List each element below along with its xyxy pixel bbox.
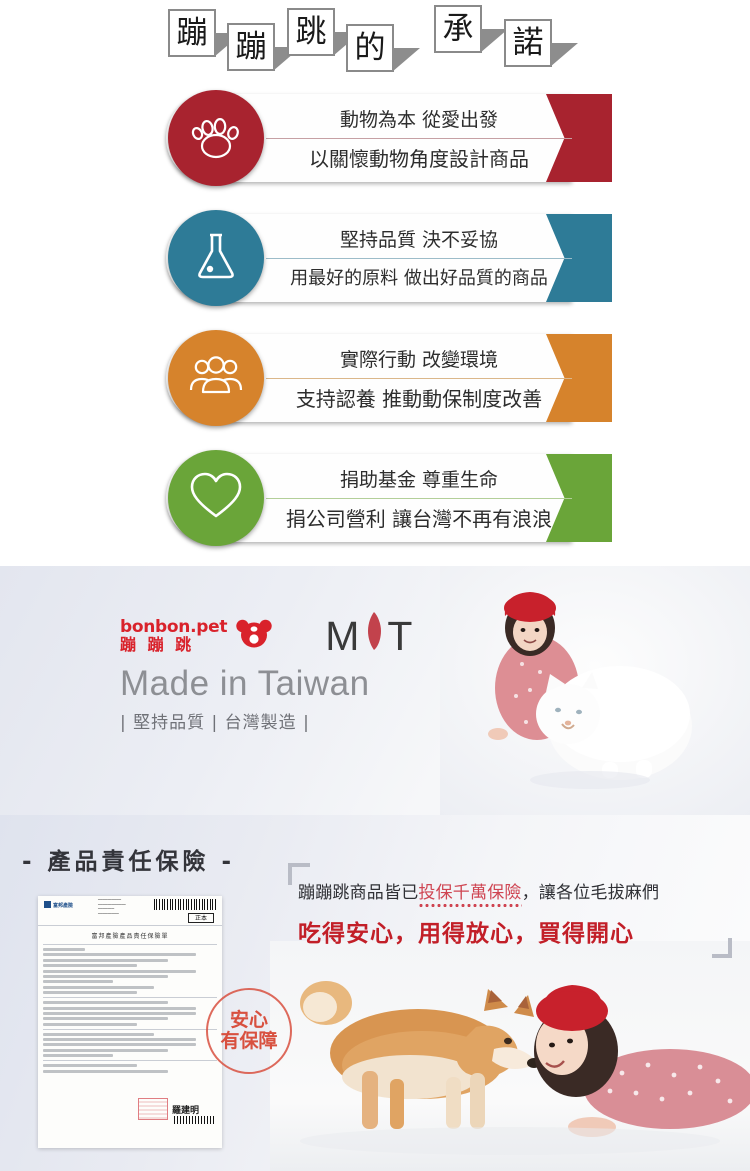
value-row-line2: 以關懷動物角度設計商品 xyxy=(266,140,572,178)
policy-barcode-bottom-icon xyxy=(174,1116,216,1124)
policy-line xyxy=(43,991,137,994)
promise-char-4: 承 xyxy=(434,5,482,53)
policy-barcode-icon xyxy=(154,899,218,910)
promise-char-3: 的 xyxy=(346,24,394,72)
value-row-text: 動物為本 從愛出發 以關懷動物角度設計商品 xyxy=(266,94,572,182)
policy-line xyxy=(43,1049,168,1052)
assurance-stamp-text: 安心 有保障 xyxy=(206,988,292,1074)
policy-doc-title: 富邦產險產品責任保險單 xyxy=(38,931,222,940)
mit-subtitle: | 堅持品質 | 台灣製造 | xyxy=(120,708,450,733)
policy-original-mark: 正本 xyxy=(188,913,214,923)
promise-char-2: 跳 xyxy=(287,8,335,56)
value-row-text: 捐助基金 尊重生命 捐公司營利 讓台灣不再有浪浪 xyxy=(266,454,572,542)
policy-line xyxy=(43,1001,168,1004)
heart-icon xyxy=(187,470,245,527)
policy-line xyxy=(43,1023,137,1026)
value-row-icon-circle xyxy=(168,210,264,306)
policy-rule xyxy=(43,997,217,998)
policy-line xyxy=(43,953,196,956)
value-row-divider xyxy=(266,378,572,379)
policy-red-seal-icon xyxy=(138,1098,168,1120)
page-root: 蹦 蹦 跳 的 承 諾 動物為本 從愛出發 以關懷動物角度設計商品 xyxy=(0,0,750,1171)
bonbon-logo-en: bonbon.pet xyxy=(120,619,227,636)
insurance-section: - 產品責任保險 - 蹦蹦跳商品皆已投保千萬保險，讓各位毛拔麻們 吃得安心，用得… xyxy=(0,815,750,1171)
promise-char-5: 諾 xyxy=(504,19,552,67)
made-in-taiwan-text: Made in Taiwan xyxy=(120,664,450,704)
promise-char-1: 蹦 xyxy=(227,23,275,71)
policy-rule xyxy=(43,1029,217,1030)
policy-rule xyxy=(43,944,217,945)
policy-line xyxy=(43,1043,196,1046)
bear-head-icon xyxy=(235,618,273,655)
mit-letter-m: M xyxy=(325,613,362,660)
policy-line xyxy=(43,970,196,973)
mit-wordmark: M T xyxy=(325,611,415,661)
policy-line xyxy=(43,1038,196,1041)
policy-company-name: 富邦產險 xyxy=(53,903,73,909)
people-icon xyxy=(188,352,244,405)
promise-char-0: 蹦 xyxy=(168,9,216,57)
bonbon-logo-cn: 蹦 蹦 跳 xyxy=(120,637,227,653)
policy-company-logo: 富邦產險 xyxy=(44,901,73,909)
value-row-line1: 實際行動 改變環境 xyxy=(266,342,572,378)
value-row: 實際行動 改變環境 支持認養 推動動保制度改善 xyxy=(166,330,612,426)
mit-text-block: bonbon.pet 蹦 蹦 跳 M xyxy=(120,614,450,733)
bonbon-logo: bonbon.pet 蹦 蹦 跳 M xyxy=(120,614,450,658)
policy-body-rows xyxy=(38,944,222,1073)
value-row-line1: 動物為本 從愛出發 xyxy=(266,102,572,138)
mit-banner: bonbon.pet 蹦 蹦 跳 M xyxy=(0,566,750,815)
value-rows: 動物為本 從愛出發 以關懷動物角度設計商品 xyxy=(0,86,750,566)
value-row-text: 堅持品質 決不妥協 用最好的原料 做出好品質的商品 xyxy=(266,214,572,302)
copy-line1-highlight: 投保千萬保險 xyxy=(418,883,521,903)
policy-line xyxy=(43,964,137,967)
taiwan-island-icon xyxy=(366,611,383,661)
value-row: 動物為本 從愛出發 以關懷動物角度設計商品 xyxy=(166,90,612,186)
value-row-line1: 捐助基金 尊重生命 xyxy=(266,462,572,498)
value-row-line2: 捐公司營利 讓台灣不再有浪浪 xyxy=(266,500,572,538)
paw-icon xyxy=(188,108,244,169)
value-row-divider xyxy=(266,258,572,259)
policy-line xyxy=(43,1012,196,1015)
value-row-line2: 用最好的原料 做出好品質的商品 xyxy=(266,260,572,298)
policy-meta-text: ▔▔▔▔▔▔▔▔▔▔▔▔▔▔▔▔▔▔▔▔▔▔▔▔▔▔▔▔▔▔▔▔▔▔▔▔▔▔ xyxy=(98,899,126,917)
policy-rule xyxy=(43,1060,217,1061)
policy-signature: 羅建明 xyxy=(172,1103,199,1116)
value-row-icon-circle xyxy=(168,90,264,186)
bonbon-logo-words: bonbon.pet 蹦 蹦 跳 xyxy=(120,619,227,653)
assurance-stamp: 安心 有保障 xyxy=(206,988,292,1074)
promise-heading: 蹦 蹦 跳 的 承 諾 xyxy=(0,0,750,86)
insurance-copy: 蹦蹦跳商品皆已投保千萬保險，讓各位毛拔麻們 吃得安心，用得放心，買得開心 xyxy=(298,878,738,948)
value-row: 捐助基金 尊重生命 捐公司營利 讓台灣不再有浪浪 xyxy=(166,450,612,546)
fubon-square-icon xyxy=(44,901,51,908)
insurance-copy-line2: 吃得安心，用得放心，買得開心 xyxy=(298,914,738,948)
assurance-stamp-line2: 有保障 xyxy=(220,1031,277,1052)
copy-line1-part-a: 蹦蹦跳商品皆已 xyxy=(298,883,418,903)
value-row-icon-circle xyxy=(168,450,264,546)
assurance-stamp-line1: 安心 xyxy=(230,1010,268,1031)
policy-line xyxy=(43,1054,113,1057)
policy-header: 富邦產險 ▔▔▔▔▔▔▔▔▔▔▔▔▔▔▔▔▔▔▔▔▔▔▔▔▔▔▔▔▔▔▔▔▔▔▔… xyxy=(38,896,222,926)
mit-letter-t: T xyxy=(387,613,415,660)
copy-line1-part-b: ，讓各位毛拔麻們 xyxy=(522,883,660,903)
policy-line xyxy=(43,1017,168,1020)
policy-line xyxy=(43,1064,137,1067)
policy-line xyxy=(43,975,168,978)
policy-line xyxy=(43,959,168,962)
insurance-title: - 產品責任保險 - xyxy=(22,842,235,876)
woman-with-white-cat-photo xyxy=(440,566,750,815)
policy-line xyxy=(43,986,154,989)
value-row-divider xyxy=(266,138,572,139)
policy-line xyxy=(43,980,113,983)
flask-icon xyxy=(191,229,241,288)
value-row-line1: 堅持品質 決不妥協 xyxy=(266,222,572,258)
insurance-copy-line1: 蹦蹦跳商品皆已投保千萬保險，讓各位毛拔麻們 xyxy=(298,878,738,903)
policy-line xyxy=(43,1070,168,1073)
policy-line xyxy=(43,1007,196,1010)
value-row-text: 實際行動 改變環境 支持認養 推動動保制度改善 xyxy=(266,334,572,422)
insurance-policy-document: 富邦產險 ▔▔▔▔▔▔▔▔▔▔▔▔▔▔▔▔▔▔▔▔▔▔▔▔▔▔▔▔▔▔▔▔▔▔▔… xyxy=(38,896,222,1148)
policy-line xyxy=(43,948,85,951)
value-row-divider xyxy=(266,498,572,499)
value-row: 堅持品質 決不妥協 用最好的原料 做出好品質的商品 xyxy=(166,210,612,306)
shiba-inu-and-woman-photo xyxy=(270,941,750,1171)
value-row-line2: 支持認養 推動動保制度改善 xyxy=(266,380,572,418)
policy-line xyxy=(43,1033,154,1036)
value-row-icon-circle xyxy=(168,330,264,426)
